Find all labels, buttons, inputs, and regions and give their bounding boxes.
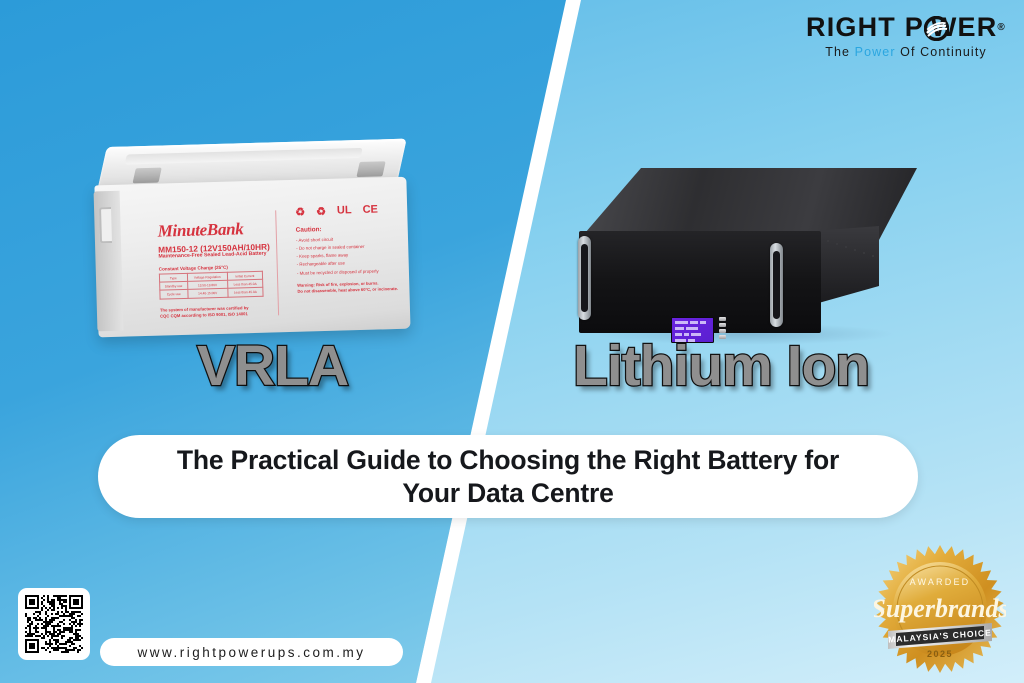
table-cell: Cycle use bbox=[160, 290, 188, 299]
battery-terminal-positive bbox=[132, 168, 161, 184]
logo-wordmark: RIGHT P WER ® bbox=[806, 14, 1006, 41]
tagline-part-c: Of Continuity bbox=[896, 45, 987, 59]
battery-label-divider bbox=[275, 210, 279, 315]
superbrands-award-badge: AWARDED Superbrands MALAYSIA'S CHOICE 20… bbox=[874, 545, 1006, 677]
unit-button[interactable] bbox=[719, 323, 726, 327]
lcd-row bbox=[675, 321, 710, 324]
battery-warning-text: Warning: Risk of fire, explosion, or bur… bbox=[297, 280, 398, 295]
unit-vent-hole bbox=[845, 246, 847, 248]
battery-case: MinuteBank MM150-12 (12V150AH/10HR) Main… bbox=[94, 177, 410, 338]
battery-terminal-negative bbox=[356, 161, 385, 177]
battery-caution-list: - Avoid short circuit- Do not charge in … bbox=[296, 235, 379, 278]
ul-mark-icon: UL bbox=[337, 204, 352, 216]
headline-pill: The Practical Guide to Choosing the Righ… bbox=[98, 435, 918, 518]
unit-vent-hole bbox=[863, 252, 865, 254]
website-url-pill[interactable]: www.rightpowerups.com.my bbox=[100, 638, 403, 666]
battery-recycle-mark-icon: ♻ bbox=[316, 204, 326, 217]
poster-canvas: RIGHT P WER ® The Power Of Continuity bbox=[0, 0, 1024, 683]
unit-front-panel bbox=[579, 231, 821, 333]
ce-mark-icon: CE bbox=[362, 204, 378, 216]
unit-vent-hole bbox=[872, 255, 874, 257]
logo-text-part1: RIGHT P bbox=[806, 14, 924, 41]
battery-certification-marks: ♻ ♻ UL CE bbox=[295, 201, 405, 220]
battery-certification-text: The system of manufacturer was certified… bbox=[160, 305, 249, 319]
headline-line-1: The Practical Guide to Choosing the Righ… bbox=[177, 444, 839, 476]
tagline-part-b: Power bbox=[855, 45, 896, 59]
qr-code-icon bbox=[25, 595, 83, 653]
headline-line-2: Your Data Centre bbox=[177, 477, 839, 509]
category-title-lithium-ion: Lithium Ion bbox=[573, 333, 869, 399]
unit-vent-hole bbox=[854, 249, 856, 251]
unit-button[interactable] bbox=[719, 317, 726, 321]
lithium-ion-battery-image bbox=[565, 168, 925, 343]
battery-spec-table: TypeVoltage RegulationInitial CurrentSta… bbox=[159, 271, 264, 299]
registered-trademark-icon: ® bbox=[997, 23, 1006, 33]
lcd-row bbox=[675, 327, 710, 330]
rack-mount-ear-right bbox=[770, 243, 783, 327]
battery-charge-header: Constant Voltage Charge (25°C) bbox=[159, 265, 228, 272]
battery-brand-label: MinuteBank bbox=[157, 219, 243, 241]
unit-side-panel bbox=[815, 226, 919, 304]
tagline-part-a: The bbox=[825, 45, 854, 59]
rack-mount-ear-left bbox=[578, 236, 591, 320]
vrla-battery-image: MinuteBank MM150-12 (12V150AH/10HR) Main… bbox=[85, 138, 420, 342]
swoosh-o-icon bbox=[924, 15, 931, 40]
qr-code[interactable] bbox=[18, 588, 90, 660]
caution-item: - Must be recycled or disposed of proper… bbox=[297, 267, 379, 277]
recycle-mark-icon: ♻ bbox=[295, 205, 305, 218]
table-row: Cycle use14.40-15.00VLess than 45.0A bbox=[160, 288, 263, 299]
battery-caution-title: Caution: bbox=[296, 226, 322, 234]
website-url-text: www.rightpowerups.com.my bbox=[137, 645, 365, 660]
table-cell: Less than 45.0A bbox=[228, 288, 263, 297]
battery-handle bbox=[99, 207, 112, 243]
logo-tagline: The Power Of Continuity bbox=[806, 45, 1006, 59]
table-cell: 14.40-15.00V bbox=[187, 289, 227, 298]
badge-year-text: 2025 bbox=[927, 649, 953, 659]
headline-text: The Practical Guide to Choosing the Righ… bbox=[149, 444, 867, 509]
badge-name-text: Superbrands bbox=[874, 594, 1006, 623]
unit-vent-hole bbox=[827, 240, 829, 242]
unit-vent-hole bbox=[836, 243, 838, 245]
badge-awarded-text: AWARDED bbox=[910, 577, 971, 587]
category-title-vrla: VRLA bbox=[197, 333, 348, 399]
company-logo[interactable]: RIGHT P WER ® The Power Of Continuity bbox=[806, 14, 1006, 64]
